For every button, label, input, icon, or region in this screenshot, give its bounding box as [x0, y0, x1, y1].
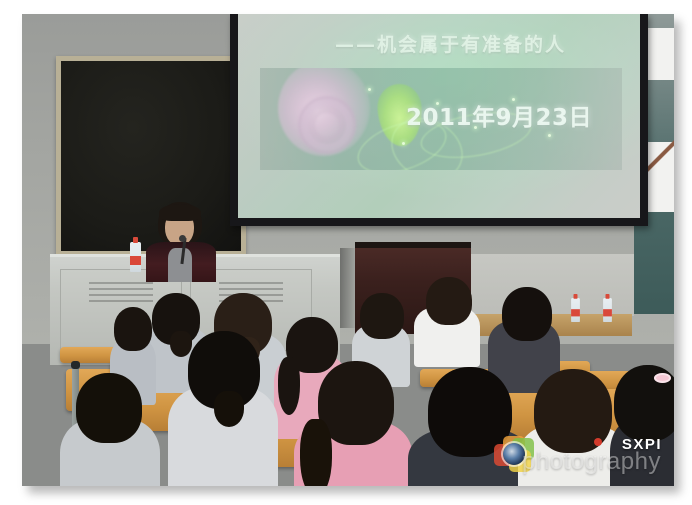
photograph: ——机会属于有准备的人 2011年9月23日	[22, 14, 674, 486]
ponytail	[214, 391, 244, 427]
logo-accent-dot	[594, 438, 602, 446]
projection-screen-surface: ——机会属于有准备的人 2011年9月23日	[238, 14, 640, 218]
sparkle	[368, 88, 371, 91]
microphone-head	[179, 235, 186, 242]
ponytail	[278, 357, 300, 415]
slide-date: 2011年9月23日	[406, 98, 592, 132]
ponytail	[300, 419, 332, 486]
slide-headline: ——机会属于有准备的人	[238, 30, 624, 57]
audience-head	[76, 373, 142, 443]
water-bottle	[130, 242, 141, 272]
window-upper	[648, 28, 674, 80]
audience-head	[360, 293, 404, 339]
pink-hair-bow	[654, 373, 671, 383]
watermark-tagline: photography	[522, 448, 661, 476]
projection-screen: ——机会属于有准备的人 2011年9月23日	[230, 14, 648, 226]
audience-head	[114, 307, 152, 351]
ponytail	[170, 331, 192, 357]
sparkle	[402, 142, 405, 145]
presenter-bangs	[159, 204, 201, 221]
audience-head	[502, 287, 552, 341]
watermark: SXPI photography	[494, 430, 664, 478]
rose-petal-swirl	[298, 96, 356, 154]
audience-head	[426, 277, 472, 325]
sparkle	[548, 134, 551, 137]
window-frame-diagonal	[648, 134, 674, 174]
photo-frame: ——机会属于有准备的人 2011年9月23日	[22, 14, 674, 486]
